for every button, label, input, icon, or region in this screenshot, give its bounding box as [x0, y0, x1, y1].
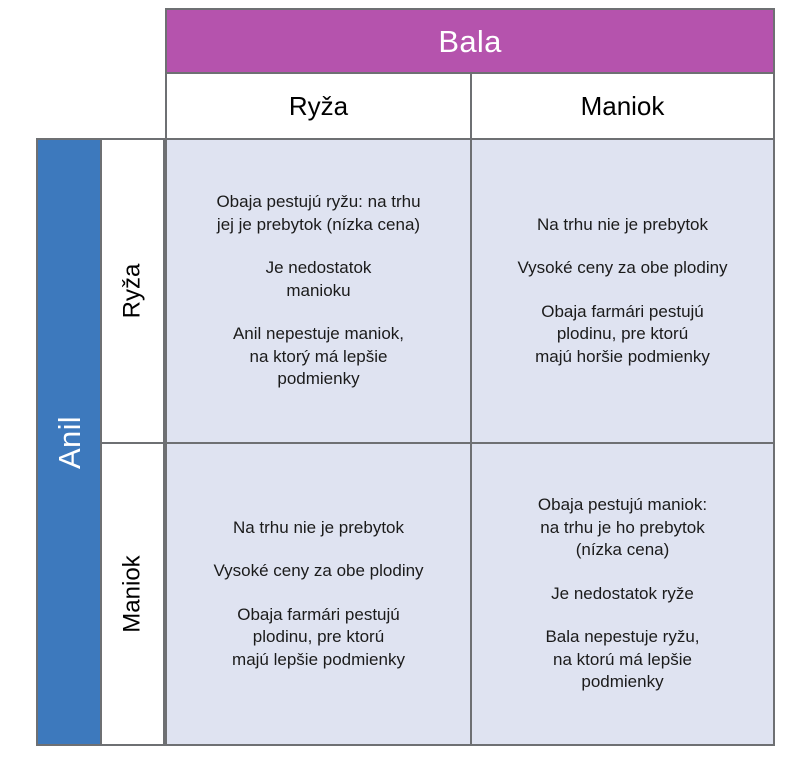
- column-strategy-ryza-label: Ryža: [289, 93, 348, 119]
- payoff-text: Na trhu nie je prebytok: [233, 517, 404, 539]
- row-player-header: Anil: [36, 138, 102, 746]
- payoff-text: Vysoké ceny za obe plodiny: [213, 560, 423, 582]
- payoff-text: Vysoké ceny za obe plodiny: [517, 257, 727, 279]
- payoff-text: Je nedostatok ryže: [551, 583, 694, 605]
- payoff-text: Bala nepestuje ryžu, na ktorú má lepšie …: [545, 626, 699, 693]
- payoff-text: Obaja pestujú ryžu: na trhu jej je preby…: [216, 191, 420, 236]
- row-player-name: Anil: [54, 416, 85, 469]
- column-strategy-maniok-label: Maniok: [581, 93, 665, 119]
- column-strategy-header-row: Ryža Maniok: [165, 72, 775, 140]
- payoff-cell-maniok-maniok: Obaja pestujú maniok: na trhu je ho preb…: [470, 442, 773, 744]
- payoff-text: Je nedostatok manioku: [266, 257, 372, 302]
- row-strategy-ryza-label: Ryža: [121, 264, 145, 319]
- column-strategy-ryza: Ryža: [167, 74, 470, 138]
- row-strategy-header-column: Ryža Maniok: [100, 138, 165, 746]
- row-strategy-maniok: Maniok: [102, 442, 163, 744]
- payoff-cell-grid: Obaja pestujú ryžu: na trhu jej je preby…: [165, 138, 775, 746]
- column-strategy-maniok: Maniok: [470, 74, 773, 138]
- payoff-text: Obaja farmári pestujú plodinu, pre ktorú…: [535, 301, 710, 368]
- payoff-text: Obaja farmári pestujú plodinu, pre ktorú…: [232, 604, 405, 671]
- payoff-text: Na trhu nie je prebytok: [537, 214, 708, 236]
- column-player-header: Bala: [165, 8, 775, 74]
- payoff-matrix: Bala Ryža Maniok Anil Ryža Maniok Obaja …: [0, 0, 810, 758]
- payoff-text: Obaja pestujú maniok: na trhu je ho preb…: [538, 494, 707, 561]
- column-player-name: Bala: [438, 26, 501, 57]
- payoff-cell-maniok-ryza: Na trhu nie je prebytok Vysoké ceny za o…: [167, 442, 470, 744]
- payoff-text: Anil nepestuje maniok, na ktorý má lepši…: [233, 323, 404, 390]
- payoff-cell-ryza-ryza: Obaja pestujú ryžu: na trhu jej je preby…: [167, 140, 470, 442]
- row-strategy-ryza: Ryža: [102, 140, 163, 442]
- row-strategy-maniok-label: Maniok: [121, 555, 145, 632]
- payoff-cell-ryza-maniok: Na trhu nie je prebytok Vysoké ceny za o…: [470, 140, 773, 442]
